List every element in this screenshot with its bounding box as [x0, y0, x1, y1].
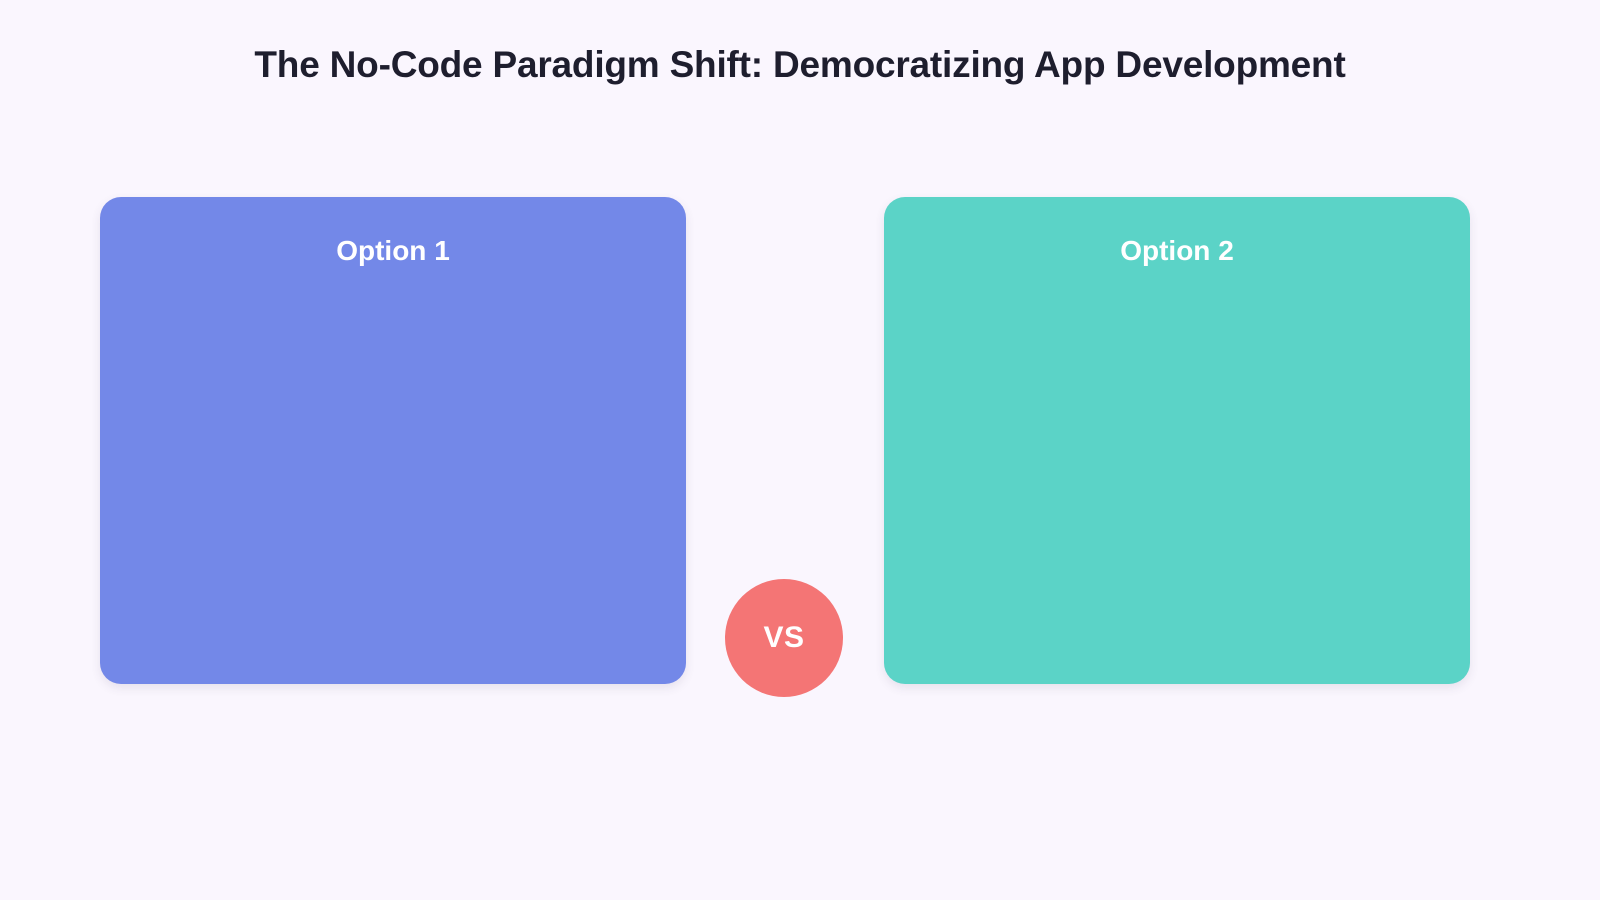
option-card-2-body	[914, 289, 1440, 656]
comparison-slide: The No-Code Paradigm Shift: Democratizin…	[0, 0, 1600, 900]
option-card-1[interactable]: Option 1	[100, 197, 686, 684]
option-card-2-header: Option 2	[884, 233, 1470, 269]
comparison-area: Option 1 Option 2 VS	[0, 197, 1600, 684]
option-card-2[interactable]: Option 2	[884, 197, 1470, 684]
option-card-1-body	[130, 289, 656, 656]
vs-badge-label: VS	[763, 623, 804, 653]
vs-badge: VS	[725, 579, 843, 697]
option-card-1-header: Option 1	[100, 233, 686, 269]
page-title: The No-Code Paradigm Shift: Democratizin…	[0, 40, 1600, 90]
